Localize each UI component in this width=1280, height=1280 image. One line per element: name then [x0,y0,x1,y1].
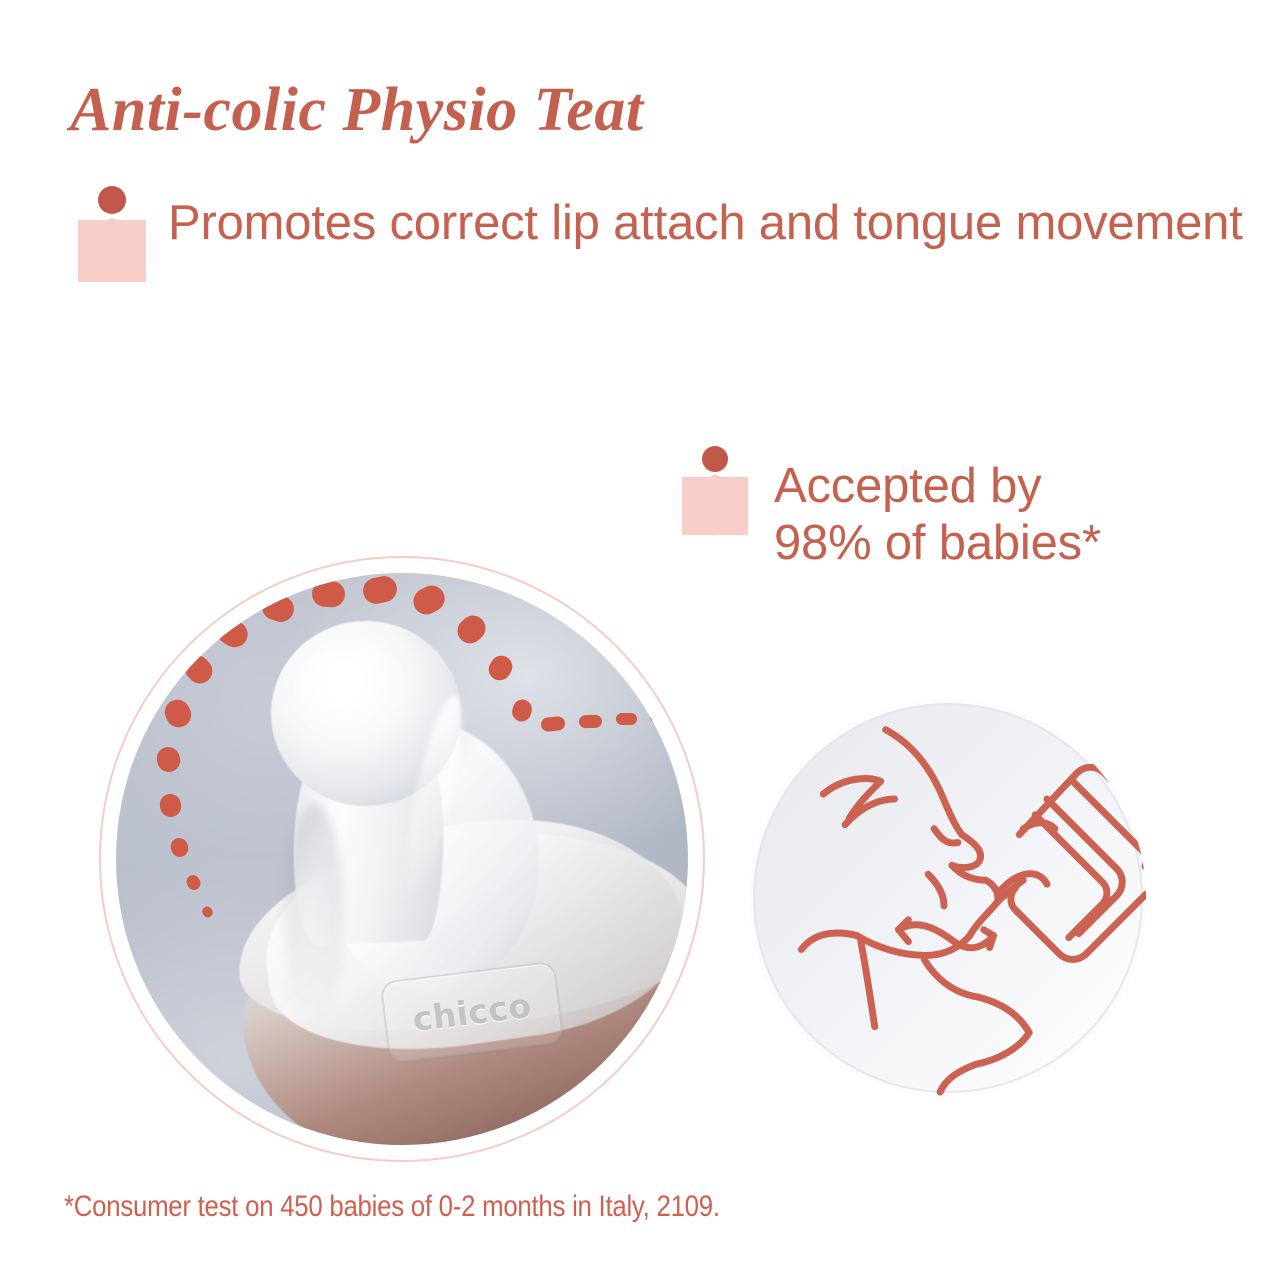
heart-shape [682,477,748,535]
page-title: Anti-colic Physio Teat [70,78,644,143]
baby-heart-icon [64,186,160,282]
baby-head-dot [702,446,728,472]
product-photo-circle: chicco [99,556,705,1162]
poster-canvas: Anti-colic Physio Teat Promotes correct … [0,0,1280,1280]
teat-shadow [284,803,344,1033]
feature-bullet-1-label: Promotes correct lip attach and tongue m… [168,196,1243,252]
feature-bullet-2-label: Accepted by 98% of babies* [774,458,1101,572]
baby-head-dot [98,186,126,214]
teat-bulb-highlight [294,641,412,749]
feature-bullet-1: Promotes correct lip attach and tongue m… [64,186,1243,282]
product-photo: chicco [116,573,688,1145]
footnote-text: *Consumer test on 450 babies of 0-2 mont… [64,1190,720,1224]
baby-bottle-feeding-illustration [750,700,1146,1096]
heart-shape [78,220,146,282]
baby-heart-icon [672,446,762,536]
chicco-brand-label: chicco [410,985,533,1038]
feature-bullet-2: Accepted by 98% of babies* [672,446,1101,572]
